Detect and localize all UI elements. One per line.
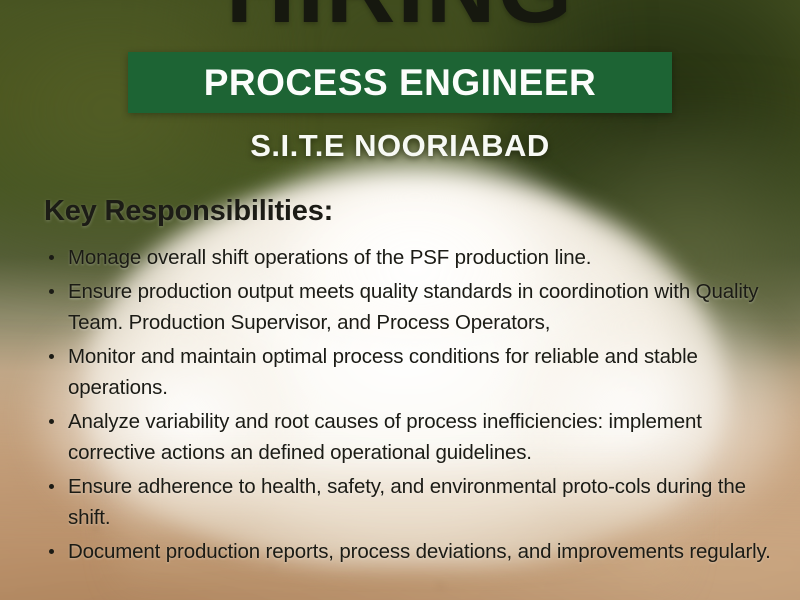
bullet-dot-icon [49,484,54,489]
responsibility-text: Analyze variability and root causes of p… [68,410,702,464]
bullet-dot-icon [49,419,54,424]
responsibility-item: Analyze variability and root causes of p… [46,406,774,468]
bullet-dot-icon [49,289,54,294]
responsibility-item: Document production reports, process dev… [46,536,774,567]
hiring-poster: HIRING PROCESS ENGINEER S.I.T.E NOORIABA… [0,0,800,600]
responsibility-item: Monage overall shift operations of the P… [46,242,774,273]
responsibilities-heading: Key Responsibilities: [44,195,333,228]
responsibility-text: Ensure production output meets quality s… [68,280,758,334]
role-banner: PROCESS ENGINEER [128,52,672,113]
role-title: PROCESS ENGINEER [204,62,596,104]
responsibility-text: Monitor and maintain optimal process con… [68,345,698,399]
responsibility-text: Document production reports, process dev… [68,540,771,563]
responsibility-text: Ensure adherence to health, safety, and … [68,475,746,529]
poster-content: HIRING PROCESS ENGINEER S.I.T.E NOORIABA… [0,0,800,600]
responsibilities-list: Monage overall shift operations of the P… [46,242,774,570]
responsibility-text: Monage overall shift operations of the P… [68,246,591,269]
bullet-dot-icon [49,354,54,359]
bullet-dot-icon [49,255,54,260]
responsibility-item: Monitor and maintain optimal process con… [46,341,774,403]
page-title: HIRING [0,0,800,38]
responsibility-item: Ensure production output meets quality s… [46,276,774,338]
bullet-dot-icon [49,549,54,554]
location-label: S.I.T.E NOORIABAD [0,128,800,164]
responsibility-item: Ensure adherence to health, safety, and … [46,471,774,533]
